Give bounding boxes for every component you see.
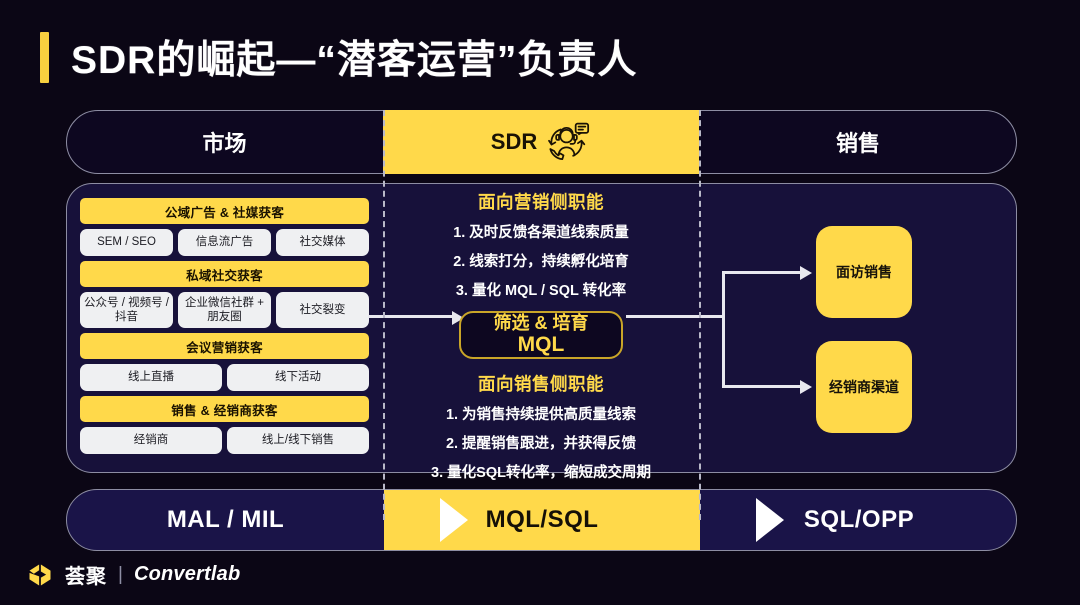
source-item[interactable]: 信息流广告 <box>178 229 271 256</box>
mql-box-line2: MQL <box>518 333 565 357</box>
source-group-items: 经销商 线上/线下销售 <box>80 427 369 454</box>
funnel-shell: MAL / MIL MQL/SQL SQL/OPP <box>66 489 1017 551</box>
brand-name-en: Convertlab <box>134 563 240 586</box>
funnel-stage-2: MQL/SQL <box>384 490 700 550</box>
source-group-items: 公众号 / 视频号 / 抖音 企业微信社群 + 朋友圈 社交裂变 <box>80 292 369 328</box>
headset-agent-icon <box>547 122 591 162</box>
list-item: 3. 量化 MQL / SQL 转化率 <box>453 279 629 300</box>
header-sales: 销售 <box>699 110 1017 174</box>
funnel-arrow-icon <box>440 498 468 542</box>
funnel-stage-1: MAL / MIL <box>67 490 384 550</box>
arrow-head-icon <box>800 380 812 394</box>
list-item: 1. 及时反馈各渠道线索质量 <box>453 221 629 242</box>
sdr-content: 面向营销侧职能 1. 及时反馈各渠道线索质量 2. 线索打分，持续孵化培育 3.… <box>383 183 699 473</box>
sales-channel-box[interactable]: 面访销售 <box>816 226 912 318</box>
funnel-stage-3: SQL/OPP <box>700 490 1017 550</box>
sales-side-title: 面向销售侧职能 <box>478 371 604 396</box>
source-group-heading: 销售 & 经销商获客 <box>80 396 369 422</box>
arrow-head-icon <box>800 266 812 280</box>
title-accent-bar <box>40 32 49 83</box>
convertlab-diamond-logo-icon <box>26 561 54 589</box>
connector-market-to-mql <box>368 315 454 318</box>
page-title: SDR的崛起—“潜客运营”负责人 <box>40 29 637 85</box>
source-item[interactable]: 社交裂变 <box>276 292 369 328</box>
list-item: 3. 量化SQL转化率，缩短成交周期 <box>431 461 651 482</box>
source-group-items: SEM / SEO 信息流广告 社交媒体 <box>80 229 369 256</box>
sales-channel-box[interactable]: 经销商渠道 <box>816 341 912 433</box>
source-item[interactable]: 公众号 / 视频号 / 抖音 <box>80 292 173 328</box>
footer-brand: 荟聚 | Convertlab <box>26 560 240 589</box>
header-sdr-label: SDR <box>491 129 537 155</box>
source-group-heading: 会议营销获客 <box>80 333 369 359</box>
market-source-stack: 公域广告 & 社媒获客 SEM / SEO 信息流广告 社交媒体 私域社交获客 … <box>80 198 369 454</box>
title-text: SDR的崛起—“潜客运营”负责人 <box>71 29 637 85</box>
brand-separator: | <box>118 564 123 586</box>
list-item: 2. 提醒销售跟进，并获得反馈 <box>431 432 651 453</box>
source-group-heading: 公域广告 & 社媒获客 <box>80 198 369 224</box>
source-item[interactable]: 线下活动 <box>227 364 369 391</box>
connector-branch-bottom <box>722 385 802 388</box>
list-item: 2. 线索打分，持续孵化培育 <box>453 250 629 271</box>
sales-side-list: 1. 为销售持续提供高质量线索 2. 提醒销售跟进，并获得反馈 3. 量化SQL… <box>431 403 651 482</box>
source-item[interactable]: 社交媒体 <box>276 229 369 256</box>
source-item[interactable]: SEM / SEO <box>80 229 173 256</box>
marketing-side-title: 面向营销侧职能 <box>478 189 604 214</box>
slide-canvas: SDR的崛起—“潜客运营”负责人 市场 SDR <box>0 0 1080 605</box>
connector-mql-to-branch <box>626 315 722 318</box>
connector-branch-top <box>722 271 802 274</box>
mql-nurture-box[interactable]: 筛选 & 培育 MQL <box>459 311 623 359</box>
source-item[interactable]: 线上/线下销售 <box>227 427 369 454</box>
source-item[interactable]: 经销商 <box>80 427 222 454</box>
list-item: 1. 为销售持续提供高质量线索 <box>431 403 651 424</box>
header-sdr: SDR <box>383 110 699 174</box>
funnel-arrow-icon <box>756 498 784 542</box>
divider-market-sdr <box>383 110 385 520</box>
source-group-items: 线上直播 线下活动 <box>80 364 369 391</box>
column-header-band: 市场 SDR <box>66 110 1017 174</box>
divider-sdr-sales <box>699 110 701 520</box>
header-sales-label: 销售 <box>836 126 880 158</box>
brand-name-cn: 荟聚 <box>65 560 107 589</box>
source-item[interactable]: 线上直播 <box>80 364 222 391</box>
header-market: 市场 <box>66 110 383 174</box>
marketing-side-list: 1. 及时反馈各渠道线索质量 2. 线索打分，持续孵化培育 3. 量化 MQL … <box>453 221 629 300</box>
funnel-stage-bar: MAL / MIL MQL/SQL SQL/OPP <box>66 489 1017 551</box>
mql-box-line1: 筛选 & 培育 <box>493 313 588 333</box>
header-market-label: 市场 <box>202 126 246 158</box>
connector-branch-vertical <box>722 271 725 388</box>
source-group-heading: 私域社交获客 <box>80 261 369 287</box>
source-item[interactable]: 企业微信社群 + 朋友圈 <box>178 292 271 328</box>
